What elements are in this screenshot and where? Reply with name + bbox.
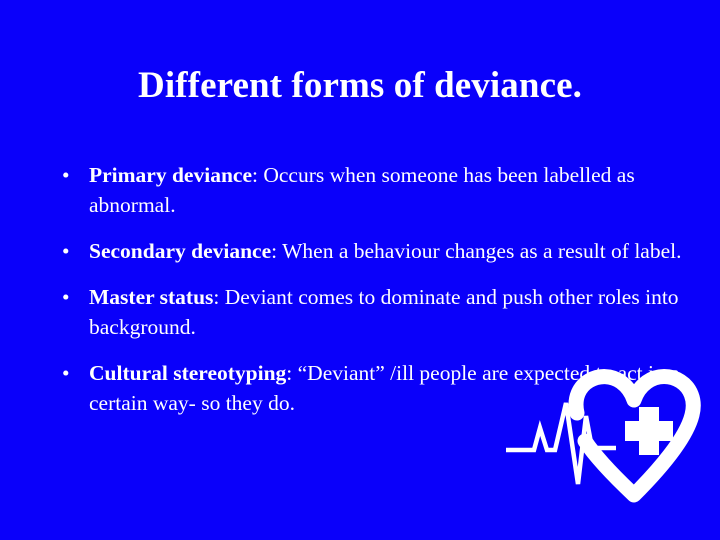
bullet-marker-icon: • [62, 236, 76, 266]
list-item: • Primary deviance: Occurs when someone … [56, 160, 686, 220]
bullet-marker-icon: • [62, 282, 76, 312]
list-item-text: Master status: Deviant comes to dominate… [89, 282, 686, 342]
bullet-list: • Primary deviance: Occurs when someone … [56, 160, 686, 418]
list-item-text: Secondary deviance: When a behaviour cha… [89, 236, 686, 266]
list-item-term: Secondary deviance [89, 239, 271, 263]
list-item-term: Master status [89, 285, 213, 309]
slide-canvas: Different forms of deviance. • Primary d… [0, 0, 720, 540]
list-item: • Cultural stereotyping: “Deviant” /ill … [56, 358, 686, 418]
list-item: • Master status: Deviant comes to domina… [56, 282, 686, 342]
page-title: Different forms of deviance. [62, 64, 658, 108]
list-item-term: Primary deviance [89, 163, 252, 187]
list-item: • Secondary deviance: When a behaviour c… [56, 236, 686, 266]
list-item-text: Cultural stereotyping: “Deviant” /ill pe… [89, 358, 686, 418]
list-item-rest: : When a behaviour changes as a result o… [271, 239, 681, 263]
bullet-marker-icon: • [62, 358, 76, 388]
list-item-text: Primary deviance: Occurs when someone ha… [89, 160, 686, 220]
bullet-marker-icon: • [62, 160, 76, 190]
list-item-term: Cultural stereotyping [89, 361, 286, 385]
